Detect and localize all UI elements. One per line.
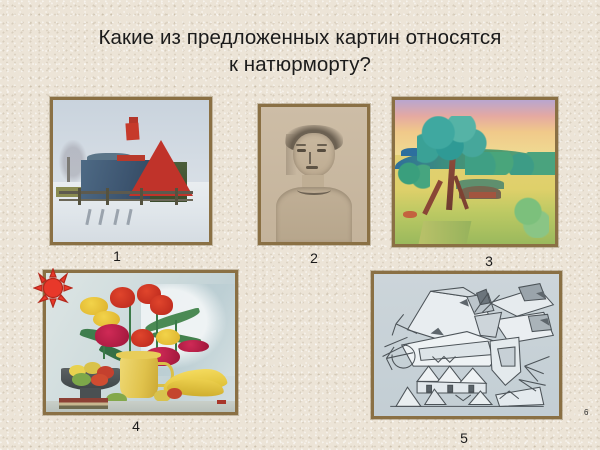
artwork-thumbnail-1[interactable] — [50, 97, 212, 245]
portrait-eyebrow-right — [317, 144, 327, 146]
portrait-eye-right — [317, 149, 325, 152]
yellow-tulip — [156, 329, 181, 346]
artwork-thumbnail-2[interactable] — [258, 104, 370, 245]
slide-title: Какие из предложенных картин относятся к… — [0, 24, 600, 78]
stacked-books — [59, 398, 108, 409]
artwork-caption-1: 1 — [97, 248, 137, 264]
red-tulip — [150, 295, 173, 314]
artwork-image-1 — [53, 100, 209, 242]
portrait-shading — [286, 134, 297, 175]
artwork-image-2 — [261, 107, 367, 242]
red-roof — [469, 192, 496, 198]
artwork-caption-3: 3 — [469, 253, 509, 269]
fence-post — [78, 188, 81, 205]
fence-post — [175, 188, 178, 205]
correct-answer-sun-marker — [33, 268, 73, 308]
artwork-thumbnail-3[interactable] — [392, 97, 558, 247]
artwork-caption-4: 4 — [116, 418, 156, 434]
artwork-image-5 — [374, 274, 559, 416]
red-tulip — [131, 329, 154, 347]
artist-signature — [217, 400, 226, 404]
grass-path — [418, 221, 471, 244]
cubist-composition — [374, 274, 559, 416]
slide-page-number: 6 — [584, 408, 588, 417]
fruit-green-apple — [72, 373, 91, 386]
jug-rim — [116, 351, 161, 359]
tree-canopy — [417, 116, 487, 168]
slide-canvas: Какие из предложенных картин относятся к… — [0, 0, 600, 450]
artwork-thumbnail-5[interactable] — [371, 271, 562, 419]
right-bush — [507, 192, 549, 238]
red-gable — [129, 140, 193, 196]
fence-post — [140, 188, 143, 205]
fruit-apple — [91, 374, 108, 385]
portrait-mouth — [306, 166, 319, 168]
fence-post — [106, 188, 109, 205]
red-accent — [403, 211, 417, 218]
artwork-image-4 — [46, 273, 235, 412]
portrait-face — [293, 133, 335, 178]
red-tulip — [110, 287, 135, 308]
artwork-caption-5: 5 — [444, 430, 484, 446]
magenta-peony — [95, 324, 129, 346]
artwork-image-3 — [395, 100, 555, 244]
artwork-caption-2: 2 — [294, 250, 334, 266]
red-chimney — [126, 122, 140, 140]
magenta-tulip — [178, 340, 208, 353]
portrait-eye-left — [297, 149, 305, 152]
portrait-nose — [309, 152, 311, 164]
portrait-eyebrow-left — [296, 144, 306, 146]
yellow-jug — [120, 354, 158, 398]
